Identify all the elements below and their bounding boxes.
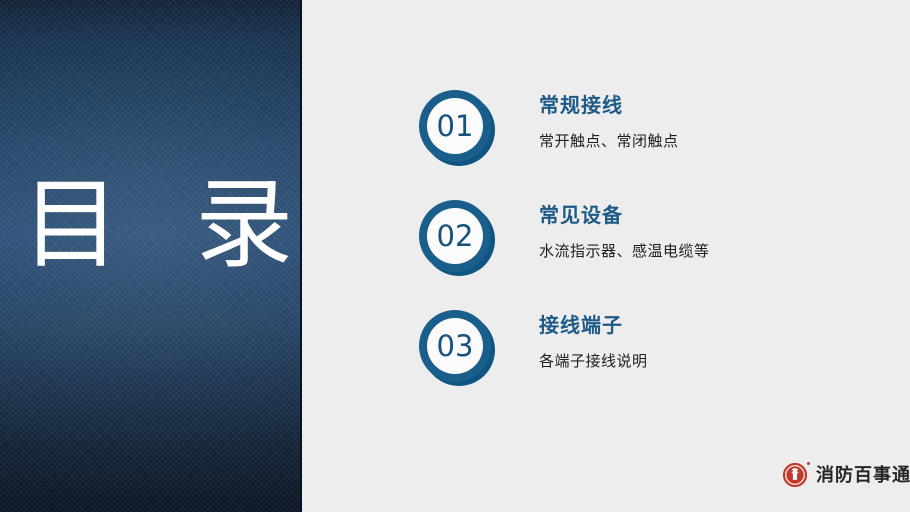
number-badge-03: 03: [419, 310, 499, 390]
badge-number: 03: [437, 332, 474, 361]
toc-item-text-block: 接线端子 各端子接线说明: [539, 308, 648, 372]
badge-inner: 02: [427, 208, 483, 264]
page-title: 目 录: [0, 176, 302, 274]
number-badge-01: 01: [419, 90, 499, 170]
toc-item-02[interactable]: 02 常见设备 水流指示器、感温电缆等: [419, 198, 889, 288]
toc-item-title: 接线端子: [539, 314, 648, 339]
toc-item-subtitle: 水流指示器、感温电缆等: [539, 242, 710, 262]
logo-accent-dot: [807, 462, 810, 465]
toc-item-title: 常见设备: [539, 204, 710, 229]
brand-logo: 消防百事通: [783, 461, 910, 489]
badge-number: 01: [437, 112, 474, 141]
badge-inner: 01: [427, 98, 483, 154]
toc-item-title: 常规接线: [539, 94, 679, 119]
toc-list: 01 常规接线 常开触点、常闭触点 02 常见设备 水流指示器、感温电缆等: [302, 0, 910, 512]
badge-inner: 03: [427, 318, 483, 374]
toc-item-01[interactable]: 01 常规接线 常开触点、常闭触点: [419, 88, 889, 178]
toc-item-text-block: 常规接线 常开触点、常闭触点: [539, 88, 679, 152]
brand-name: 消防百事通: [816, 466, 910, 484]
left-title-panel: 目 录: [0, 0, 302, 512]
number-badge-02: 02: [419, 200, 499, 280]
toc-item-text-block: 常见设备 水流指示器、感温电缆等: [539, 198, 710, 262]
toc-item-03[interactable]: 03 接线端子 各端子接线说明: [419, 308, 889, 398]
fire-shield-circle-icon: [783, 463, 807, 487]
toc-item-subtitle: 常开触点、常闭触点: [539, 132, 679, 152]
badge-number: 02: [437, 222, 474, 251]
toc-item-subtitle: 各端子接线说明: [539, 352, 648, 372]
presentation-slide: 目 录 01 常规接线 常开触点、常闭触点 02: [0, 0, 910, 512]
